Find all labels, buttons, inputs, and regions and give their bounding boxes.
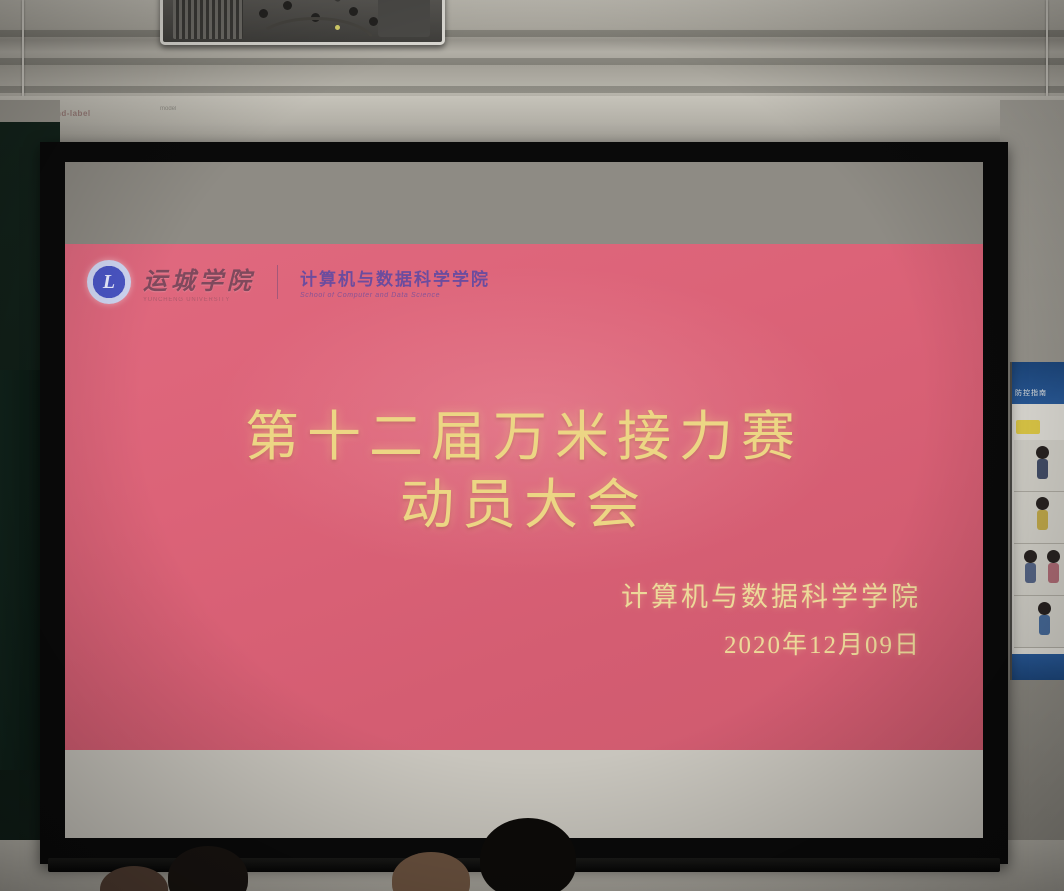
university-name-cn: 运城学院 [143,261,255,296]
header-divider [277,265,278,299]
slide-footer-block: 计算机与数据科学学院 2020年12月09日 [621,572,921,668]
poster-footer-band [1012,654,1064,680]
slide-footer-organization: 计算机与数据科学学院 [621,572,921,623]
hanging-wire [22,0,24,96]
slide-title-line2: 动员大会 [65,472,983,540]
university-name-block: 运城学院 YUNCHENG UNIVERSITY [143,261,255,303]
ceiling-projector [160,0,445,45]
screen-housing: brand-label model [0,96,1064,142]
letterbox-top [65,162,983,244]
wall-poster: 防控指南 [1010,362,1064,680]
projection-screen-frame: L 运城学院 YUNCHENG UNIVERSITY 计算机与数据科学学院 Sc… [40,142,1008,864]
slide-header: L 运城学院 YUNCHENG UNIVERSITY 计算机与数据科学学院 Sc… [87,260,490,304]
housing-model-label: model [160,106,176,113]
projector-cable [255,17,375,43]
projection-surface: L 运城学院 YUNCHENG UNIVERSITY 计算机与数据科学学院 Sc… [65,162,983,838]
department-name-block: 计算机与数据科学学院 School of Computer and Data S… [300,265,490,299]
poster-title: 防控指南 [1015,388,1047,398]
projector-port-panel [378,0,430,37]
projector-vent [173,0,243,39]
projector-mount-arm [293,0,343,3]
department-name-en: School of Computer and Data Science [300,292,490,299]
audience-head [480,818,576,891]
slide-title-line1: 第十二届万米接力赛 [65,404,983,472]
classroom-photo: brand-label model 防控指南 [0,0,1064,891]
hanging-wire-right [1046,0,1048,96]
slide-title-block: 第十二届万米接力赛 动员大会 [65,404,983,539]
university-emblem-icon: L [87,260,131,304]
emblem-letter: L [103,272,115,292]
department-name-cn: 计算机与数据科学学院 [300,265,490,290]
university-name-en: YUNCHENG UNIVERSITY [143,297,255,303]
presentation-slide: L 运城学院 YUNCHENG UNIVERSITY 计算机与数据科学学院 Sc… [65,244,983,750]
poster-badge [1016,420,1040,434]
slide-footer-date: 2020年12月09日 [621,623,921,668]
